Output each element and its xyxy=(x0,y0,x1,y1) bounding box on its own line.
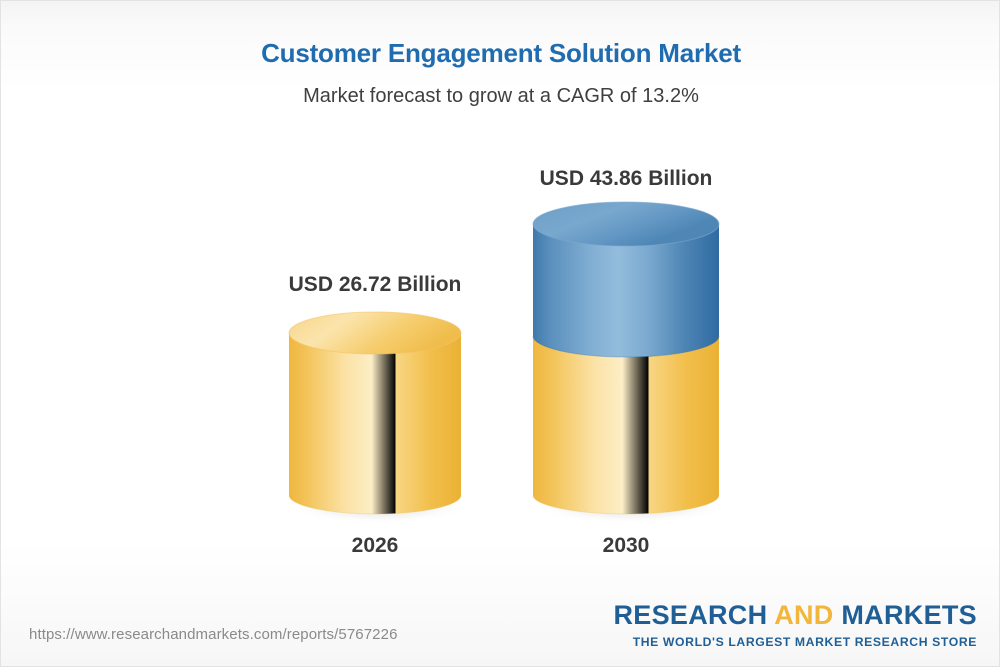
chart-card: Customer Engagement Solution Market Mark… xyxy=(0,0,1000,667)
bar-category-label-2026: 2026 xyxy=(265,534,485,558)
logo-word-markets: MARKETS xyxy=(834,600,977,630)
research-and-markets-logo[interactable]: RESEARCH AND MARKETS THE WORLD'S LARGEST… xyxy=(613,602,977,648)
bar-cylinder-2026 xyxy=(287,312,471,524)
bar-cylinder-2030 xyxy=(531,202,729,524)
chart-plot-area: USD 26.72 Billion 2026 USD 43.86 Billion… xyxy=(1,1,1000,667)
bar-value-label-2026: USD 26.72 Billion xyxy=(265,273,485,297)
logo-wordmark: RESEARCH AND MARKETS xyxy=(613,602,977,629)
bar-category-label-2030: 2030 xyxy=(516,534,736,558)
logo-word-and: AND xyxy=(774,600,833,630)
cylinder-bars-svg xyxy=(1,1,1000,667)
bar-value-label-2030: USD 43.86 Billion xyxy=(516,167,736,191)
logo-tagline: THE WORLD'S LARGEST MARKET RESEARCH STOR… xyxy=(613,629,977,648)
logo-word-research: RESEARCH xyxy=(613,600,774,630)
report-url[interactable]: https://www.researchandmarkets.com/repor… xyxy=(29,626,398,643)
